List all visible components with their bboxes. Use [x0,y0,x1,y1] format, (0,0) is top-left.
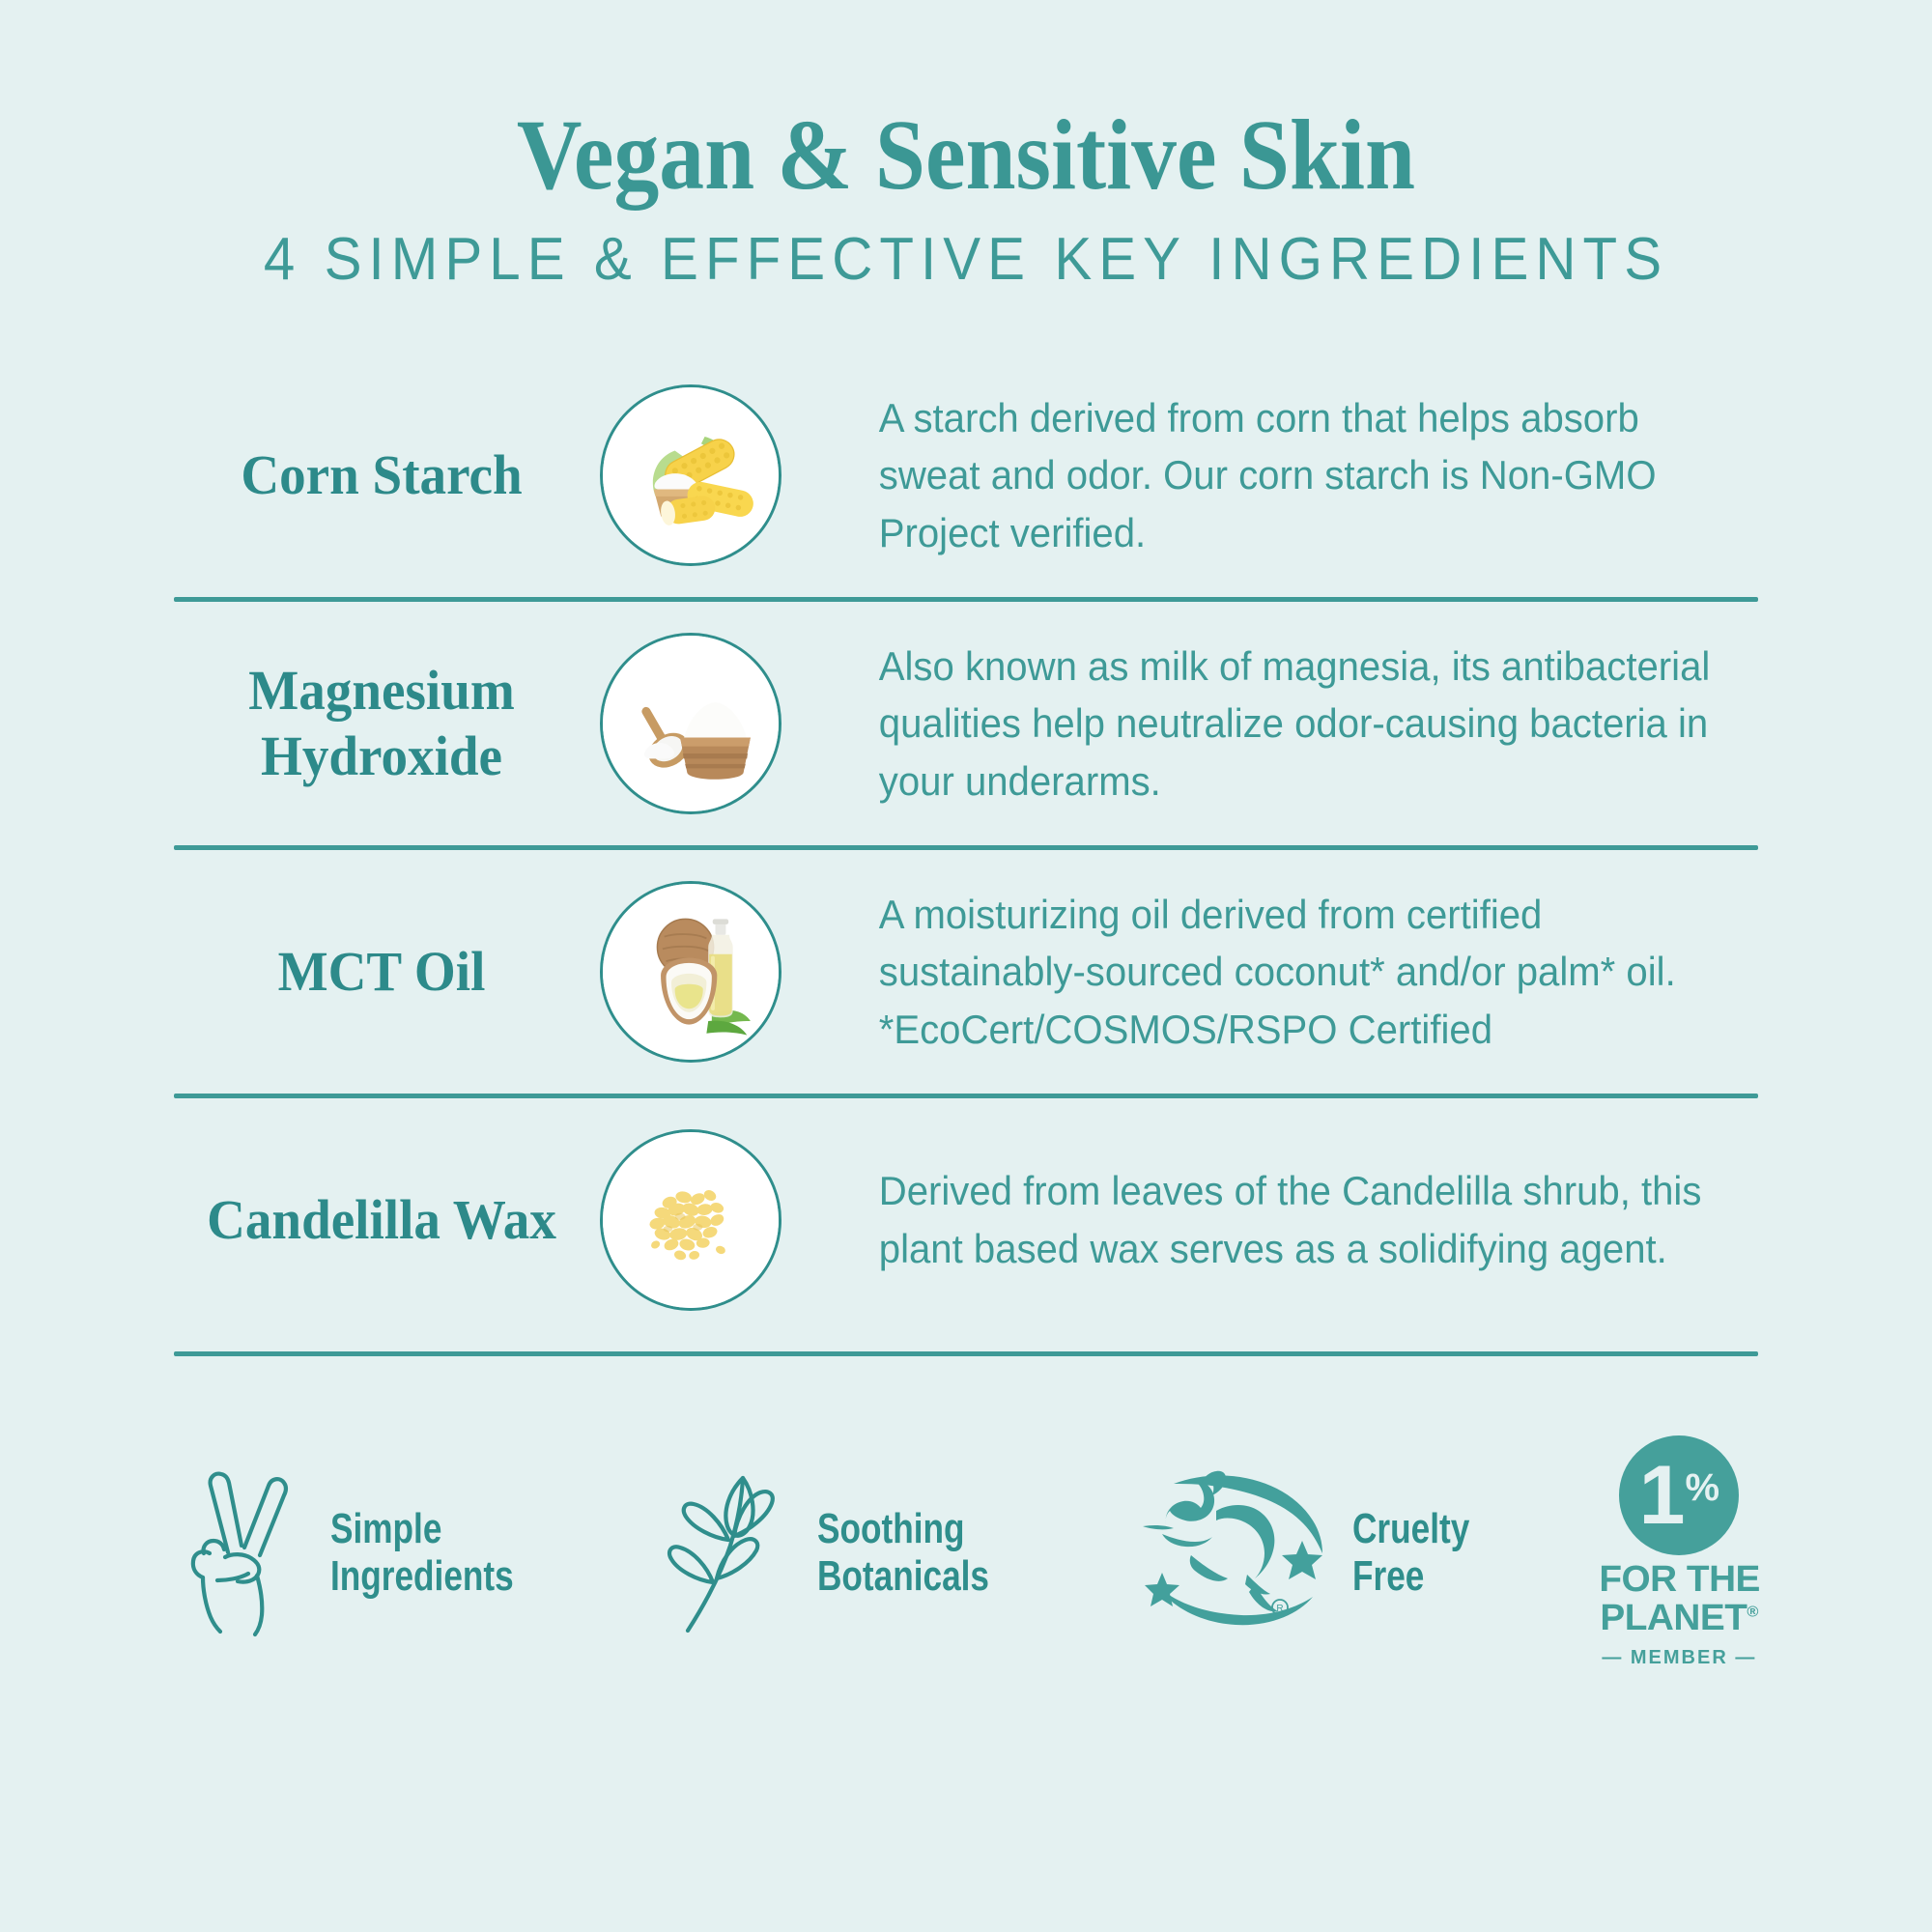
ingredient-row-candelilla-wax: Candelilla Wax [174,1098,1758,1342]
candelilla-wax-photo [600,1129,781,1311]
svg-text:R: R [1277,1604,1284,1614]
one-percent-circle: 1 % [1619,1435,1739,1555]
leaping-bunny-icon: R [1133,1461,1341,1644]
ingredient-thumbnail-cell [589,1129,792,1311]
planet-line-2-text: PLANET [1601,1598,1747,1638]
ingredient-row-magnesium-hydroxide: Magnesium Hydroxide [174,602,1758,845]
planet-percent-sign: % [1685,1468,1719,1507]
bottom-divider [174,1351,1758,1356]
planet-line-2: PLANET® [1601,1600,1759,1637]
infographic-page: Vegan & Sensitive Skin 4 SIMPLE & EFFECT… [0,0,1932,1932]
header: Vegan & Sensitive Skin 4 SIMPLE & EFFECT… [0,0,1932,290]
ingredient-thumbnail-cell [589,633,792,814]
ingredient-row-mct-oil: MCT Oil [174,850,1758,1094]
ingredient-name: MCT Oil [185,939,580,1005]
ingredient-name: Candelilla Wax [185,1187,580,1253]
ingredient-list: Corn Starch [0,354,1932,1356]
one-percent-for-the-planet-icon: 1 % FOR THE PLANET® — MEMBER — [1601,1435,1758,1669]
registered-mark: ® [1747,1604,1759,1620]
ingredient-name: Corn Starch [185,442,580,508]
magnesium-hydroxide-photo [600,633,781,814]
planet-member-label: — MEMBER — [1602,1647,1756,1669]
badge-row: Simple Ingredients [0,1435,1932,1669]
ingredient-name: Magnesium Hydroxide [185,658,580,790]
ingredient-thumbnail-cell [589,384,792,566]
leaf-sprig-icon [661,1461,806,1644]
badge-cruelty-free: R Cruelty Free [1133,1461,1499,1644]
page-subtitle: 4 SIMPLE & EFFECTIVE KEY INGREDIENTS [58,230,1874,290]
badge-simple-ingredients: Simple Ingredients [174,1461,559,1644]
ingredient-thumbnail-cell [589,881,792,1063]
badge-label: Soothing Botanicals [817,1505,989,1601]
corn-starch-photo [600,384,781,566]
badge-label: Cruelty Free [1352,1505,1469,1601]
ingredient-description: A starch derived from corn that helps ab… [792,389,1715,562]
ingredient-description: A moisturizing oil derived from certifie… [792,886,1715,1059]
page-title: Vegan & Sensitive Skin [97,104,1835,207]
mct-oil-photo [600,881,781,1063]
ingredient-description: Derived from leaves of the Candelilla sh… [792,1162,1715,1277]
planet-number: 1 [1639,1454,1684,1537]
ingredient-description: Also known as milk of magnesia, its anti… [792,638,1715,810]
badge-label: Simple Ingredients [330,1505,514,1601]
ingredient-row-corn-starch: Corn Starch [174,354,1758,597]
peace-hand-icon [174,1461,319,1644]
badge-soothing-botanicals: Soothing Botanicals [661,1461,1033,1644]
planet-line-1: FOR THE [1599,1561,1760,1599]
